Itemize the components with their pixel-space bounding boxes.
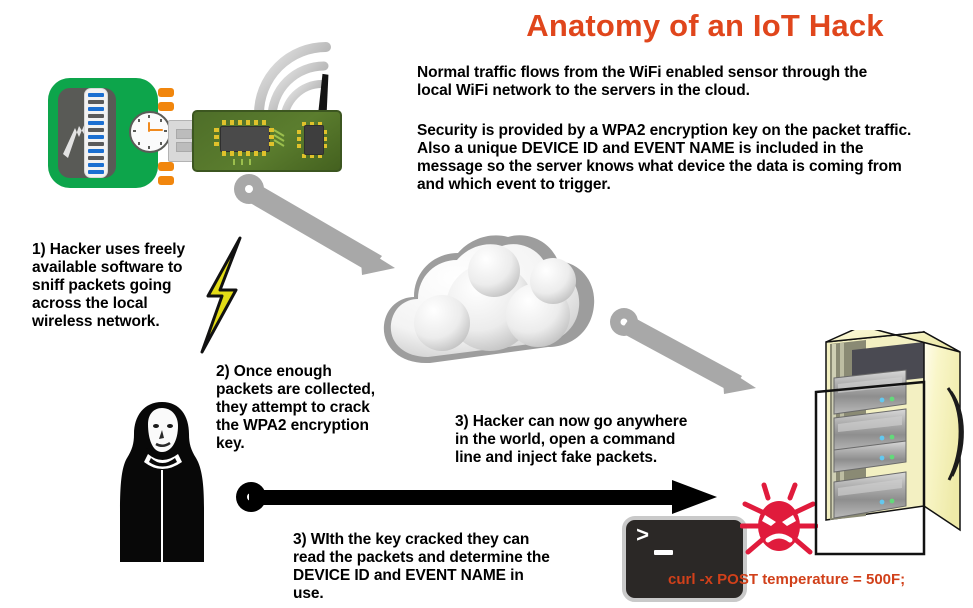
step-3b-text: 3) WIth the key cracked they can read th…	[293, 531, 553, 603]
page-title: Anatomy of an IoT Hack	[470, 8, 940, 44]
gray-arrow-cloud-to-server	[608, 306, 773, 396]
angry-bug-icon	[740, 482, 818, 564]
cloud-icon	[370, 215, 605, 375]
black-arrow-hacker-to-server	[236, 478, 718, 516]
thermometer-icon	[84, 88, 108, 178]
sensor-pin	[158, 102, 174, 111]
sensor-pin	[158, 176, 174, 185]
step-2-text: 2) Once enough packets are collected, th…	[216, 363, 391, 453]
sensor-pin	[158, 162, 174, 171]
server-rack-icon	[812, 330, 968, 558]
terminal-window-icon[interactable]: >	[622, 516, 747, 602]
curl-command-text: curl -x POST temperature = 500F;	[668, 571, 968, 588]
diagram-canvas: Anatomy of an IoT Hack Normal traffic fl…	[0, 0, 973, 608]
pcb-board-icon	[192, 110, 342, 172]
clock-gauge-icon	[129, 111, 171, 153]
terminal-cursor	[654, 550, 673, 555]
terminal-prompt: >	[636, 526, 649, 548]
step-1-text: 1) Hacker uses freely available software…	[32, 241, 207, 331]
intro-paragraph-2: Security is provided by a WPA2 encryptio…	[417, 122, 927, 194]
step-3a-text: 3) Hacker can now go anywhere in the wor…	[455, 413, 700, 467]
hooded-hacker-icon	[118, 396, 206, 564]
sensor-pin	[158, 88, 174, 97]
intro-paragraph-1: Normal traffic flows from the WiFi enabl…	[417, 64, 905, 100]
